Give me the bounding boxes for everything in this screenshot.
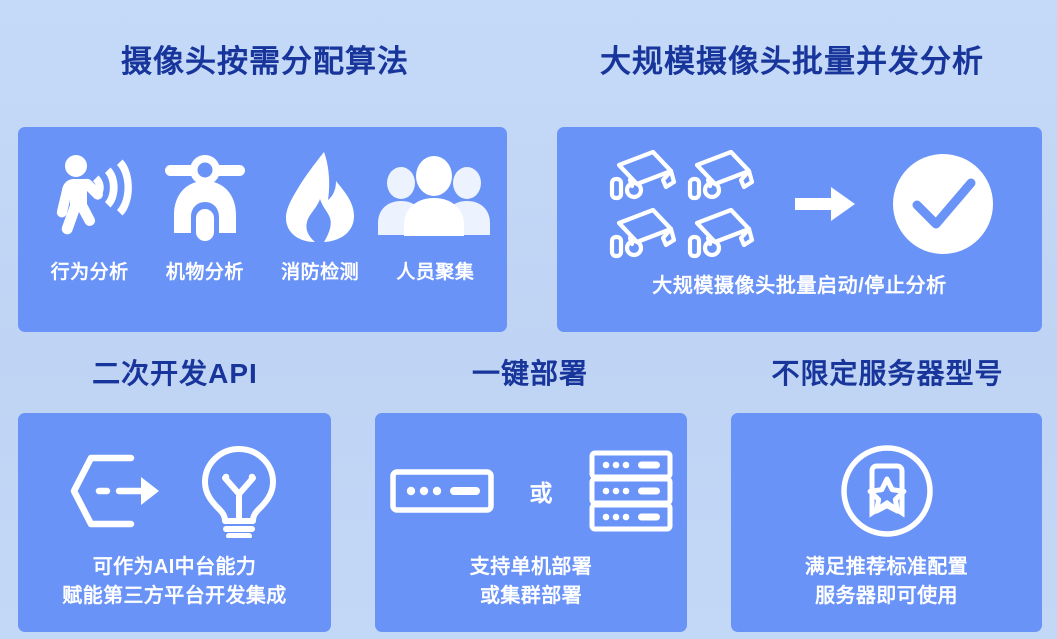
camera-slot-2 [683,147,759,203]
camera-slot-4 [683,205,759,261]
flame-icon [278,150,362,244]
section-title-no-server-restriction: 不限定服务器型号 [720,352,1055,392]
section-title-large-scale-analysis: 大规模摄像头批量并发分析 [527,36,1057,81]
card-algorithm-allocation: 行为分析 机物分析 消防检测 人员聚集 [18,127,507,332]
camera-slot-3 [605,205,681,261]
algorithm-label-fire: 消防检测 [264,257,376,284]
algorithm-item-fire[interactable] [264,145,376,249]
lightbulb-icon [197,444,281,538]
algorithm-label-crowd: 人员聚集 [379,257,491,284]
cctv-camera-icon [686,207,756,259]
api-hexagon-arrow-icon [69,450,161,532]
section-title-secondary-development-api: 二次开发API [10,352,340,392]
algorithm-label-behavior: 行为分析 [34,257,146,284]
deploy-icon-group: 或 [375,435,687,547]
card-one-click-deploy: 或 [375,413,687,632]
algorithm-label-row: 行为分析 机物分析 消防检测 人员聚集 [18,257,507,284]
algorithm-item-vehicle[interactable] [149,145,261,249]
algorithm-item-behavior[interactable] [35,145,147,249]
server-rack-icon [589,450,673,532]
server-card-line-2: 服务器即可使用 [731,582,1042,610]
check-circle-icon [891,152,995,256]
cctv-camera-icon [686,149,756,201]
server-card-text: 满足推荐标准配置 服务器即可使用 [731,553,1042,610]
walking-person-motion-icon [43,153,139,241]
camera-slot-1 [605,147,681,203]
cctv-camera-icon [608,207,678,259]
server-icon-group [731,435,1042,547]
api-icon-group [18,435,331,547]
algorithm-icon-row [18,141,507,253]
algorithm-label-vehicle: 机物分析 [149,257,261,284]
people-group-icon [376,156,492,238]
card-batch-analysis: 大规模摄像头批量启动/停止分析 [557,127,1042,332]
arrow-right-icon [793,184,857,224]
section-title-one-click-deploy: 一键部署 [365,352,695,392]
scooter-icon [155,153,255,241]
api-card-line-2: 赋能第三方平台开发集成 [18,582,331,610]
deploy-card-line-2: 或集群部署 [375,582,687,610]
deploy-card-line-1: 支持单机部署 [375,553,687,581]
batch-card-caption: 大规模摄像头批量启动/停止分析 [557,269,1042,298]
infographic-page: 摄像头按需分配算法 大规模摄像头批量并发分析 [0,0,1057,639]
camera-grid [605,147,759,261]
card-secondary-development-api: 可作为AI中台能力 赋能第三方平台开发集成 [18,413,331,632]
api-card-line-1: 可作为AI中台能力 [18,553,331,581]
cctv-camera-icon [608,149,678,201]
single-server-icon [390,469,494,513]
server-card-line-1: 满足推荐标准配置 [731,553,1042,581]
api-card-text: 可作为AI中台能力 赋能第三方平台开发集成 [18,553,331,610]
section-title-algorithm-allocation: 摄像头按需分配算法 [0,36,530,81]
card-no-server-restriction: 满足推荐标准配置 服务器即可使用 [731,413,1042,632]
deploy-card-text: 支持单机部署 或集群部署 [375,553,687,610]
algorithm-item-crowd[interactable] [378,145,490,249]
deploy-separator-label: 或 [530,474,553,508]
batch-stage [557,145,1042,263]
badge-star-circle-icon [839,443,935,539]
